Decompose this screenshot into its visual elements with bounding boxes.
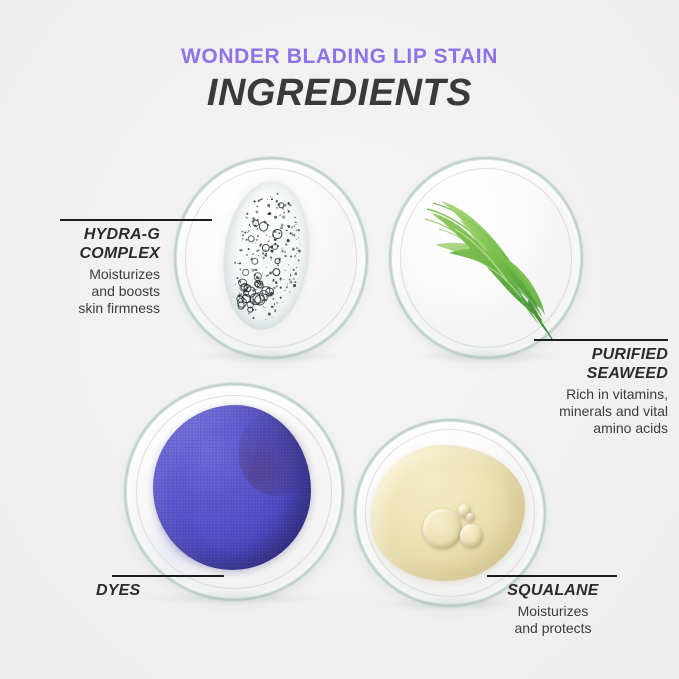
gel-bubble bbox=[247, 306, 253, 312]
callout-desc-line1: Moisturizes bbox=[18, 266, 160, 283]
gel-speck bbox=[287, 240, 290, 243]
callout-title-line1: DYES bbox=[96, 582, 236, 601]
leader-line bbox=[60, 219, 212, 221]
gel-speck bbox=[265, 255, 267, 257]
gel-speck bbox=[247, 254, 248, 255]
callout-description: Moisturizes and boosts skin firmness bbox=[18, 266, 160, 317]
gel-speck bbox=[290, 255, 292, 257]
gel-speck bbox=[265, 307, 266, 308]
gel-speck bbox=[280, 287, 282, 289]
gel-speck bbox=[277, 292, 278, 293]
gel-speck bbox=[300, 243, 301, 244]
gel-speck bbox=[268, 313, 271, 316]
gel-speck bbox=[259, 255, 260, 256]
gel-speck bbox=[268, 212, 271, 215]
gel-speck bbox=[295, 217, 297, 219]
page-title: INGREDIENTS bbox=[0, 72, 679, 115]
callout-squalane: SQUALANE Moisturizes and protects bbox=[487, 568, 619, 637]
gel-speck bbox=[270, 236, 272, 238]
gel-speck bbox=[271, 250, 274, 253]
gel-speck bbox=[293, 278, 296, 281]
gel-speck bbox=[257, 206, 259, 208]
gel-speck bbox=[295, 256, 297, 258]
gel-speck bbox=[257, 235, 259, 237]
callout-title: SQUALANE bbox=[487, 582, 619, 601]
callout-dyes: DYES bbox=[96, 568, 236, 601]
gel-speck bbox=[280, 297, 282, 299]
gel-speck bbox=[268, 204, 271, 207]
callout-title-line2: SEAWEED bbox=[520, 365, 668, 384]
gel-speck bbox=[298, 259, 300, 261]
gel-speck bbox=[243, 249, 244, 250]
gel-speck bbox=[271, 199, 273, 201]
callout-hydra-g-complex: HYDRA-G COMPLEX Moisturizes and boosts s… bbox=[18, 208, 160, 317]
gel-speck bbox=[248, 232, 249, 233]
gel-speck bbox=[294, 226, 295, 227]
gel-speck bbox=[235, 284, 236, 285]
gel-speck bbox=[268, 199, 269, 200]
gel-speck bbox=[299, 237, 300, 238]
callout-desc-line2: minerals and vital bbox=[520, 403, 668, 420]
callout-desc-line2: and protects bbox=[487, 620, 619, 637]
callout-title-line2: COMPLEX bbox=[18, 245, 160, 264]
callout-desc-line3: skin firmness bbox=[18, 300, 160, 317]
gel-speck bbox=[297, 267, 298, 268]
gel-speck bbox=[297, 253, 298, 254]
gel-speck bbox=[283, 216, 286, 219]
callout-title: HYDRA-G COMPLEX bbox=[18, 226, 160, 264]
gel-bubble bbox=[275, 258, 281, 264]
gel-speck bbox=[255, 310, 256, 311]
gel-speck bbox=[248, 313, 250, 315]
gel-speck bbox=[290, 205, 292, 207]
gel-bubble bbox=[272, 244, 278, 250]
gel-speck bbox=[284, 279, 285, 280]
oil-bubble-large bbox=[423, 509, 461, 548]
gel-speck bbox=[239, 263, 241, 265]
callout-title-line1: PURIFIED bbox=[520, 346, 668, 365]
callout-purified-seaweed: PURIFIED SEAWEED Rich in vitamins, miner… bbox=[520, 330, 668, 437]
gel-speck bbox=[290, 275, 292, 277]
gel-speck bbox=[266, 234, 268, 236]
leader-line bbox=[112, 575, 224, 577]
gel-bubble bbox=[251, 257, 259, 265]
gel-speck bbox=[286, 230, 287, 231]
gel-bubble bbox=[243, 269, 250, 276]
gel-speck bbox=[274, 304, 276, 306]
gel-speck bbox=[254, 201, 256, 203]
gel-speck bbox=[268, 241, 270, 243]
callout-title: DYES bbox=[96, 582, 236, 601]
gel-speck bbox=[290, 292, 291, 293]
gel-speck bbox=[288, 264, 290, 266]
gel-speck bbox=[274, 239, 277, 242]
gel-speck bbox=[266, 267, 268, 269]
petri-dish-purified-seaweed bbox=[389, 157, 583, 359]
callout-desc-line3: amino acids bbox=[520, 420, 668, 437]
gel-bubble bbox=[262, 244, 271, 253]
gel-speck bbox=[242, 238, 244, 240]
gel-speck bbox=[278, 265, 280, 267]
gel-speck bbox=[271, 197, 272, 198]
gel-speck bbox=[292, 227, 294, 229]
gel-speck bbox=[250, 226, 252, 228]
gel-speck bbox=[288, 211, 290, 213]
gel-speck bbox=[294, 284, 297, 287]
gel-speck bbox=[284, 251, 286, 253]
gel-speck bbox=[277, 302, 279, 304]
gel-speck bbox=[242, 235, 244, 237]
gel-speck bbox=[286, 286, 288, 288]
callout-desc-line1: Rich in vitamins, bbox=[520, 386, 668, 403]
leader-line bbox=[534, 339, 668, 341]
gel-speck bbox=[246, 213, 248, 215]
brand-title: WONDER BLADING LIP STAIN bbox=[0, 45, 679, 69]
gel-bubble bbox=[265, 287, 275, 297]
gel-speck bbox=[263, 257, 265, 259]
gel-speck bbox=[276, 285, 278, 287]
gel-speck bbox=[278, 245, 280, 247]
callout-desc-line2: and boosts bbox=[18, 283, 160, 300]
gel-speck bbox=[267, 274, 270, 277]
gel-speck bbox=[248, 230, 250, 232]
gel-speck bbox=[280, 226, 283, 229]
gel-speck bbox=[246, 217, 248, 219]
gel-speck bbox=[271, 259, 272, 260]
dish-shadow bbox=[190, 349, 353, 363]
leader-line bbox=[487, 575, 617, 577]
gel-speck bbox=[299, 229, 301, 231]
gel-speck bbox=[272, 317, 273, 318]
gel-speck bbox=[253, 254, 255, 256]
gel-speck bbox=[275, 281, 278, 284]
callout-title-line1: HYDRA-G bbox=[18, 226, 160, 245]
gel-speck bbox=[274, 215, 277, 218]
gel-speck bbox=[265, 319, 266, 320]
callout-title-line1: SQUALANE bbox=[487, 582, 619, 601]
gel-speck bbox=[274, 287, 276, 289]
gel-speck bbox=[285, 255, 288, 258]
callout-description: Moisturizes and protects bbox=[487, 603, 619, 637]
callout-description: Rich in vitamins, minerals and vital ami… bbox=[520, 386, 668, 437]
gel-speck bbox=[255, 243, 256, 244]
gel-speck bbox=[269, 240, 270, 241]
seaweed-illustration bbox=[389, 157, 583, 359]
gel-speck bbox=[284, 212, 285, 213]
gel-speck bbox=[296, 240, 297, 241]
gel-speck bbox=[285, 290, 286, 291]
gel-speck bbox=[273, 298, 275, 300]
gel-speck bbox=[248, 248, 250, 250]
gel-bubble bbox=[272, 268, 281, 277]
gel-speck bbox=[285, 270, 286, 271]
gel-speck bbox=[296, 224, 297, 225]
seaweed-svg bbox=[389, 157, 583, 359]
gel-speck bbox=[277, 193, 279, 195]
gel-speck bbox=[293, 248, 296, 251]
gel-speck bbox=[263, 259, 264, 260]
oil-bubble-medium bbox=[460, 524, 483, 548]
gel-speck bbox=[293, 234, 296, 237]
callout-desc-line1: Moisturizes bbox=[487, 603, 619, 620]
oil-bubble-tiny bbox=[466, 513, 475, 522]
gel-speck bbox=[262, 273, 264, 275]
gel-speck bbox=[256, 239, 258, 241]
gel-speck bbox=[271, 306, 273, 308]
gel-speck bbox=[253, 317, 255, 319]
gel-speck bbox=[274, 309, 276, 311]
petri-dish-hydra-g-complex bbox=[174, 157, 368, 359]
gel-speck bbox=[258, 249, 260, 251]
gel-speck bbox=[257, 289, 259, 291]
gel-speck bbox=[264, 231, 265, 232]
callout-title: PURIFIED SEAWEED bbox=[520, 346, 668, 384]
ingredients-infographic: WONDER BLADING LIP STAIN INGREDIENTS bbox=[0, 0, 679, 679]
gel-bubble bbox=[278, 203, 284, 209]
gel-speck bbox=[270, 207, 271, 208]
gel-bubble bbox=[273, 229, 283, 239]
gel-speck bbox=[283, 302, 284, 303]
gel-bubble bbox=[259, 222, 270, 233]
gel-speck bbox=[285, 244, 287, 246]
gel-speck bbox=[257, 213, 258, 214]
